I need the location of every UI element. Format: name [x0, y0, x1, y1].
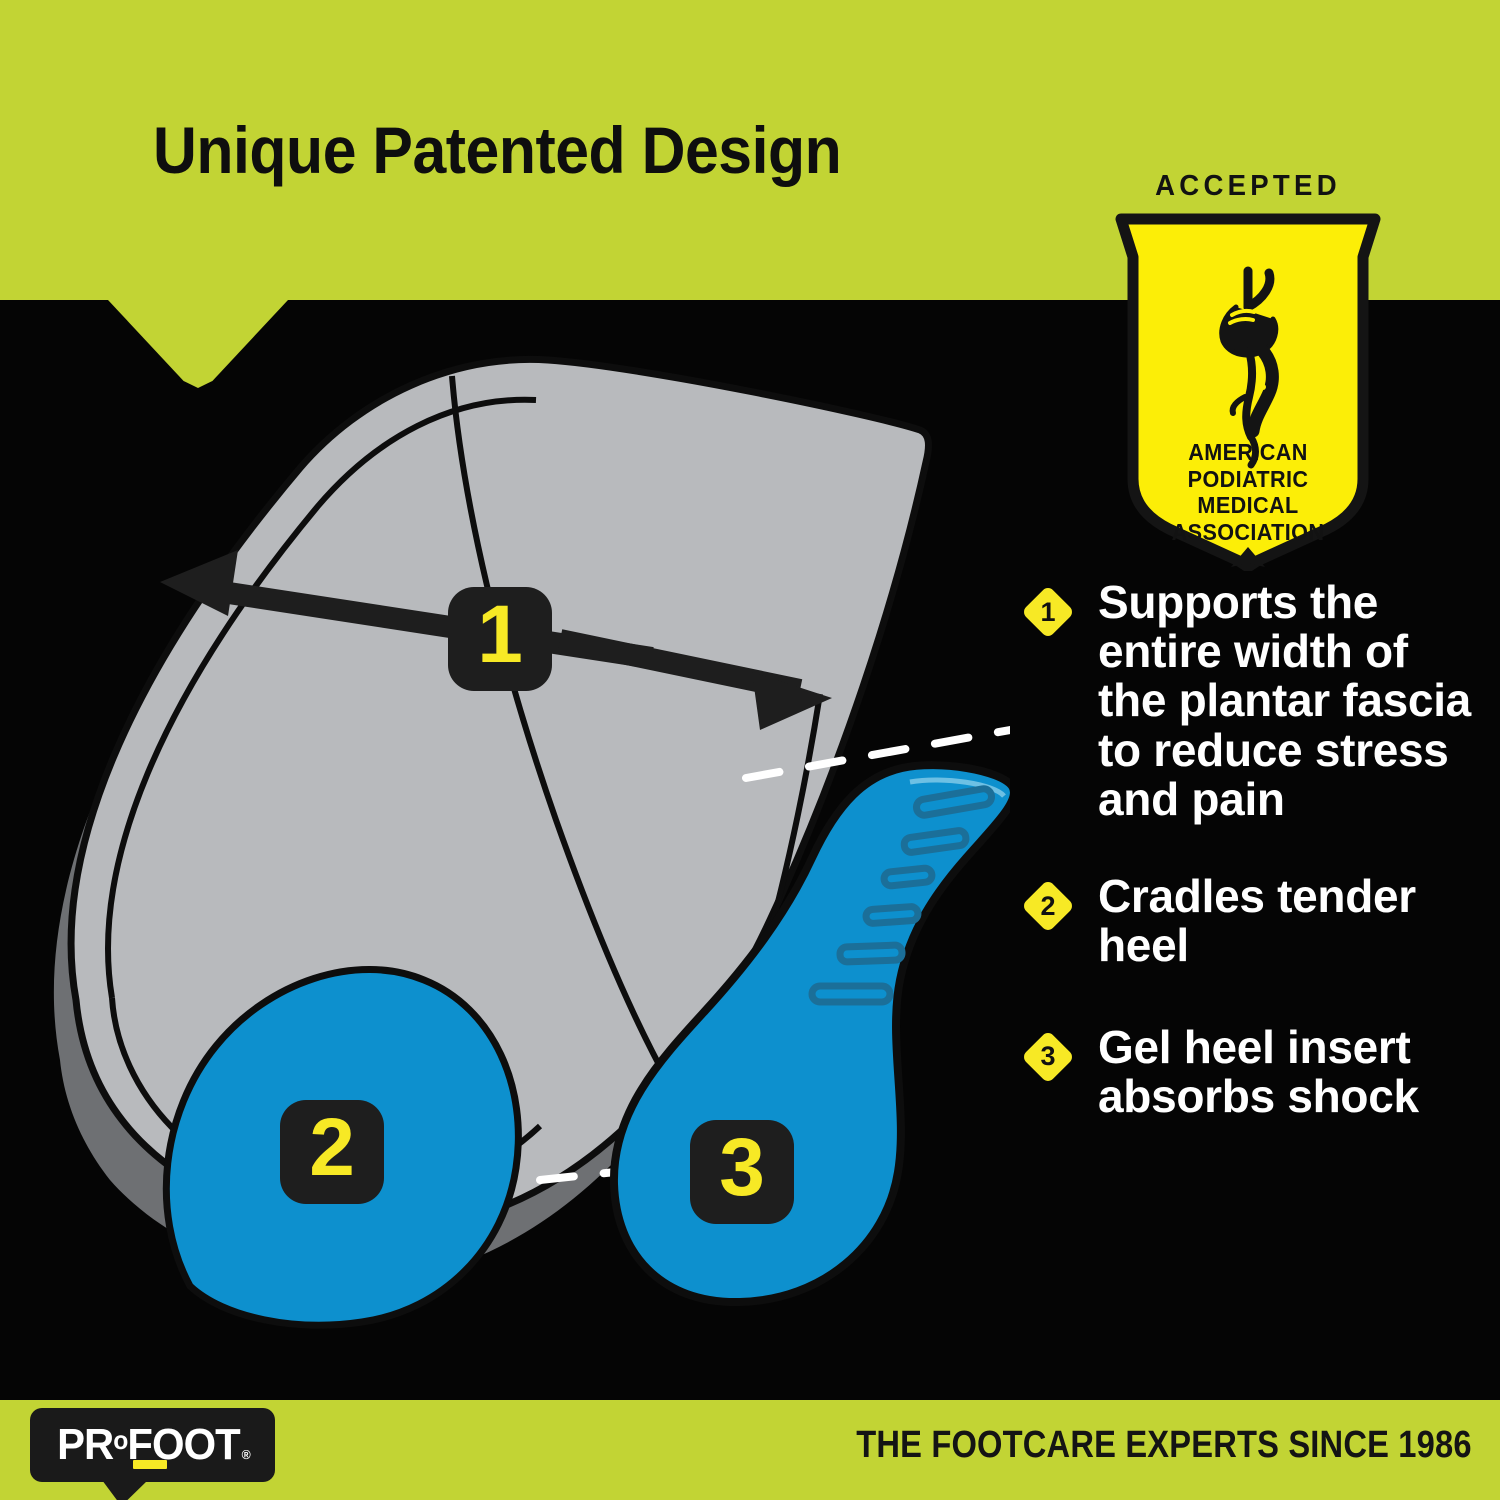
feature-list: 1 Supports the entire width of the plant…: [1022, 578, 1472, 1155]
marker-1: 1: [448, 587, 552, 691]
footer-tagline: THE FOOTCARE EXPERTS SINCE 1986: [856, 1424, 1472, 1467]
feature-2-text: Cradles tender heel: [1098, 872, 1472, 970]
feature-3-number: 3: [1022, 1031, 1074, 1083]
insole-artwork: 1 2 3: [0, 300, 1010, 1380]
feature-1-badge: 1: [1022, 586, 1074, 638]
logo-text-pre: PR: [57, 1420, 113, 1470]
page-title: Unique Patented Design: [153, 112, 841, 188]
apma-line-3: MEDICAL: [1121, 492, 1375, 519]
profoot-logo: PRoFOOT®: [30, 1408, 275, 1482]
feature-3-text: Gel heel insert absorbs shock: [1098, 1023, 1472, 1121]
feature-2-badge: 2: [1022, 880, 1074, 932]
marker-3: 3: [690, 1120, 794, 1224]
feature-2-number: 2: [1022, 880, 1074, 932]
apma-badge: ACCEPTED: [1113, 172, 1383, 571]
feature-item-1: 1 Supports the entire width of the plant…: [1022, 578, 1472, 824]
logo-text-o: o: [113, 1425, 127, 1456]
marker-3-number: 3: [719, 1122, 765, 1213]
logo-wordmark: PRoFOOT®: [36, 1408, 269, 1482]
feature-1-text: Supports the entire width of the plantar…: [1098, 578, 1472, 824]
marker-1-number: 1: [477, 589, 523, 680]
insole-illustration: 1 2 3: [0, 300, 1010, 1380]
marker-2-number: 2: [309, 1102, 355, 1193]
apma-line-2: PODIATRIC: [1121, 466, 1375, 493]
feature-item-3: 3 Gel heel insert absorbs shock: [1022, 1023, 1472, 1121]
logo-accent-bar: [133, 1460, 167, 1469]
feature-3-badge: 3: [1022, 1031, 1074, 1083]
marker-2: 2: [280, 1100, 384, 1204]
product-infographic: Unique Patented Design ACCEPTED: [0, 0, 1500, 1500]
feature-item-2: 2 Cradles tender heel: [1022, 872, 1472, 970]
apma-line-4: ASSOCIATION: [1121, 519, 1375, 546]
feature-1-number: 1: [1022, 586, 1074, 638]
apma-shield: AMERICAN PODIATRIC MEDICAL ASSOCIATION: [1113, 211, 1383, 571]
apma-line-1: AMERICAN: [1121, 439, 1375, 466]
apma-shield-text: AMERICAN PODIATRIC MEDICAL ASSOCIATION: [1121, 439, 1375, 546]
registered-trademark-icon: ®: [242, 1447, 250, 1462]
apma-accepted-label: ACCEPTED: [1120, 172, 1377, 201]
